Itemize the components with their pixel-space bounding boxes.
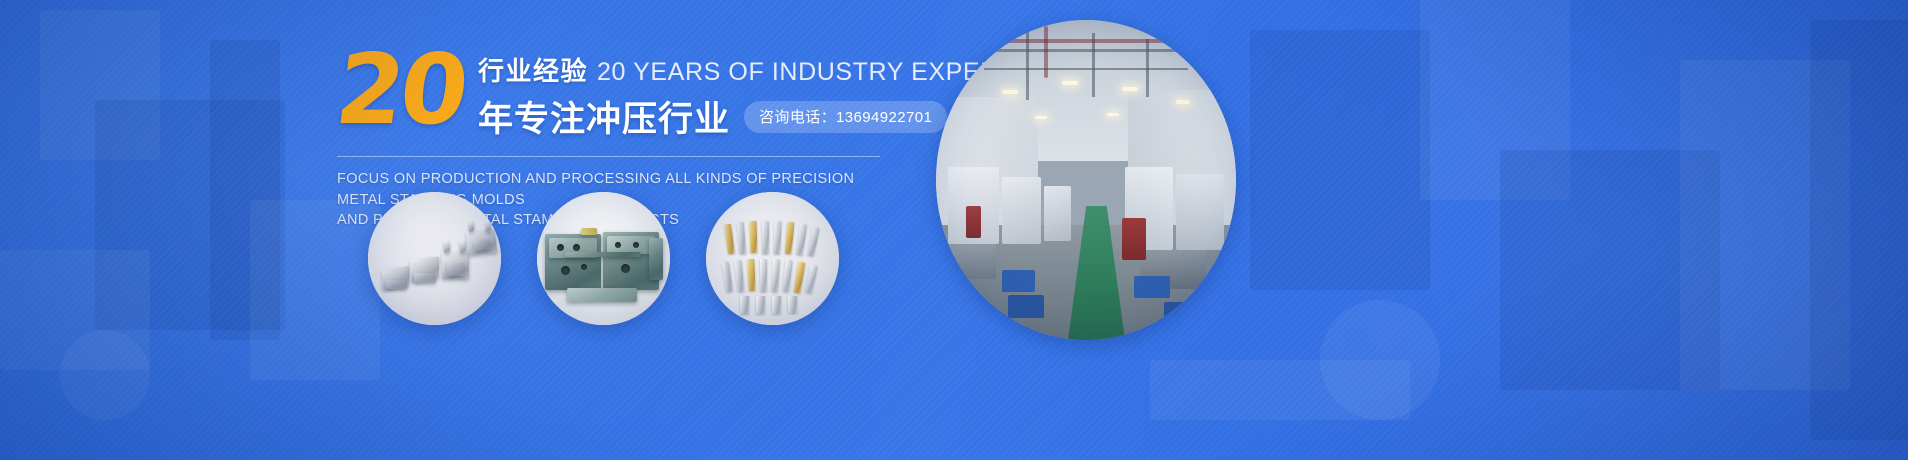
- phone-badge[interactable]: 咨询电话：13694922701: [744, 101, 947, 133]
- bg-ghost-shape: [1500, 150, 1720, 390]
- bg-ghost-shape: [1420, 0, 1570, 200]
- bg-ghost-shape: [1680, 60, 1850, 390]
- bg-ghost-shape: [60, 330, 150, 420]
- headline-row: 20 行业经验 20 YEARS OF INDUSTRY EXPERIENCE …: [337, 42, 897, 142]
- factory-circle: [936, 20, 1236, 340]
- bg-ghost-shape: [1150, 360, 1410, 420]
- bg-ghost-shape: [95, 100, 285, 330]
- product-circle-mold: [537, 192, 670, 325]
- bg-ghost-shape: [1250, 30, 1430, 290]
- bg-ghost-shape: [1810, 20, 1908, 440]
- years-number: 20: [332, 46, 470, 133]
- headline-cn-big: 年专注冲压行业: [478, 91, 730, 142]
- product-circle-pins: [706, 192, 839, 325]
- bg-ghost-shape: [1320, 300, 1440, 420]
- headline-cn-small: 行业经验: [478, 51, 588, 88]
- bg-ghost-shape: [0, 250, 150, 370]
- bg-ghost-shape: [40, 10, 160, 160]
- promo-banner: 20 行业经验 20 YEARS OF INDUSTRY EXPERIENCE …: [0, 0, 1908, 460]
- divider-line: [337, 156, 880, 157]
- product-circle-connectors: [368, 192, 501, 325]
- bg-ghost-shape: [210, 40, 280, 340]
